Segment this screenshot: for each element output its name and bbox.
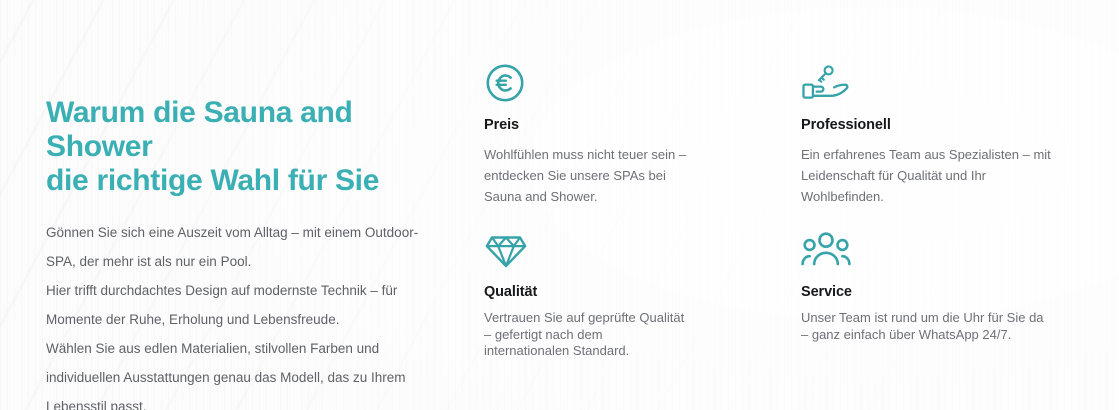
feature-text-preis: Wohlfühlen muss nicht teuer sein – entde… xyxy=(484,144,689,207)
intro-body: Gönnen Sie sich eine Auszeit vom Alltag … xyxy=(46,218,438,410)
page-title-line-2: die richtige Wahl für Sie xyxy=(46,164,379,197)
diamond-icon xyxy=(484,229,689,273)
content-area: Warum die Sauna and Shower die richtige … xyxy=(0,0,1119,410)
intro-paragraph-2: Hier trifft durchdachtes Design auf mode… xyxy=(46,276,438,334)
feature-title-qualitaet: Qualität xyxy=(484,283,689,301)
page-root: Warum die Sauna and Shower die richtige … xyxy=(0,0,1119,410)
feature-text-professionell: Ein erfahrenes Team aus Spezialisten – m… xyxy=(801,144,1061,207)
feature-title-service: Service xyxy=(801,283,1046,301)
feature-card-preis: Preis Wohlfühlen muss nicht teuer sein –… xyxy=(484,62,689,207)
feature-card-qualitaet: Qualität Vertrauen Sie auf geprüfte Qual… xyxy=(484,229,689,360)
feature-card-professionell: Professionell Ein erfahrenes Team aus Sp… xyxy=(801,62,1061,207)
people-group-icon xyxy=(801,229,1046,273)
feature-text-qualitaet: Vertrauen Sie auf geprüfte Qualität – ge… xyxy=(484,310,689,360)
feature-title-preis: Preis xyxy=(484,116,689,134)
intro-paragraph-1: Gönnen Sie sich eine Auszeit vom Alltag … xyxy=(46,218,438,276)
intro-paragraph-3: Wählen Sie aus edlen Materialien, stilvo… xyxy=(46,334,438,410)
euro-circle-icon xyxy=(484,62,689,106)
page-title: Warum die Sauna and Shower die richtige … xyxy=(46,96,446,198)
feature-title-professionell: Professionell xyxy=(801,116,1061,134)
intro-section: Warum die Sauna and Shower die richtige … xyxy=(46,96,446,410)
feature-card-service: Service Unser Team ist rund um die Uhr f… xyxy=(801,229,1046,343)
feature-text-service: Unser Team ist rund um die Uhr für Sie d… xyxy=(801,310,1046,343)
page-title-line-1: Warum die Sauna and Shower xyxy=(46,96,353,163)
hand-key-icon xyxy=(801,62,1061,106)
